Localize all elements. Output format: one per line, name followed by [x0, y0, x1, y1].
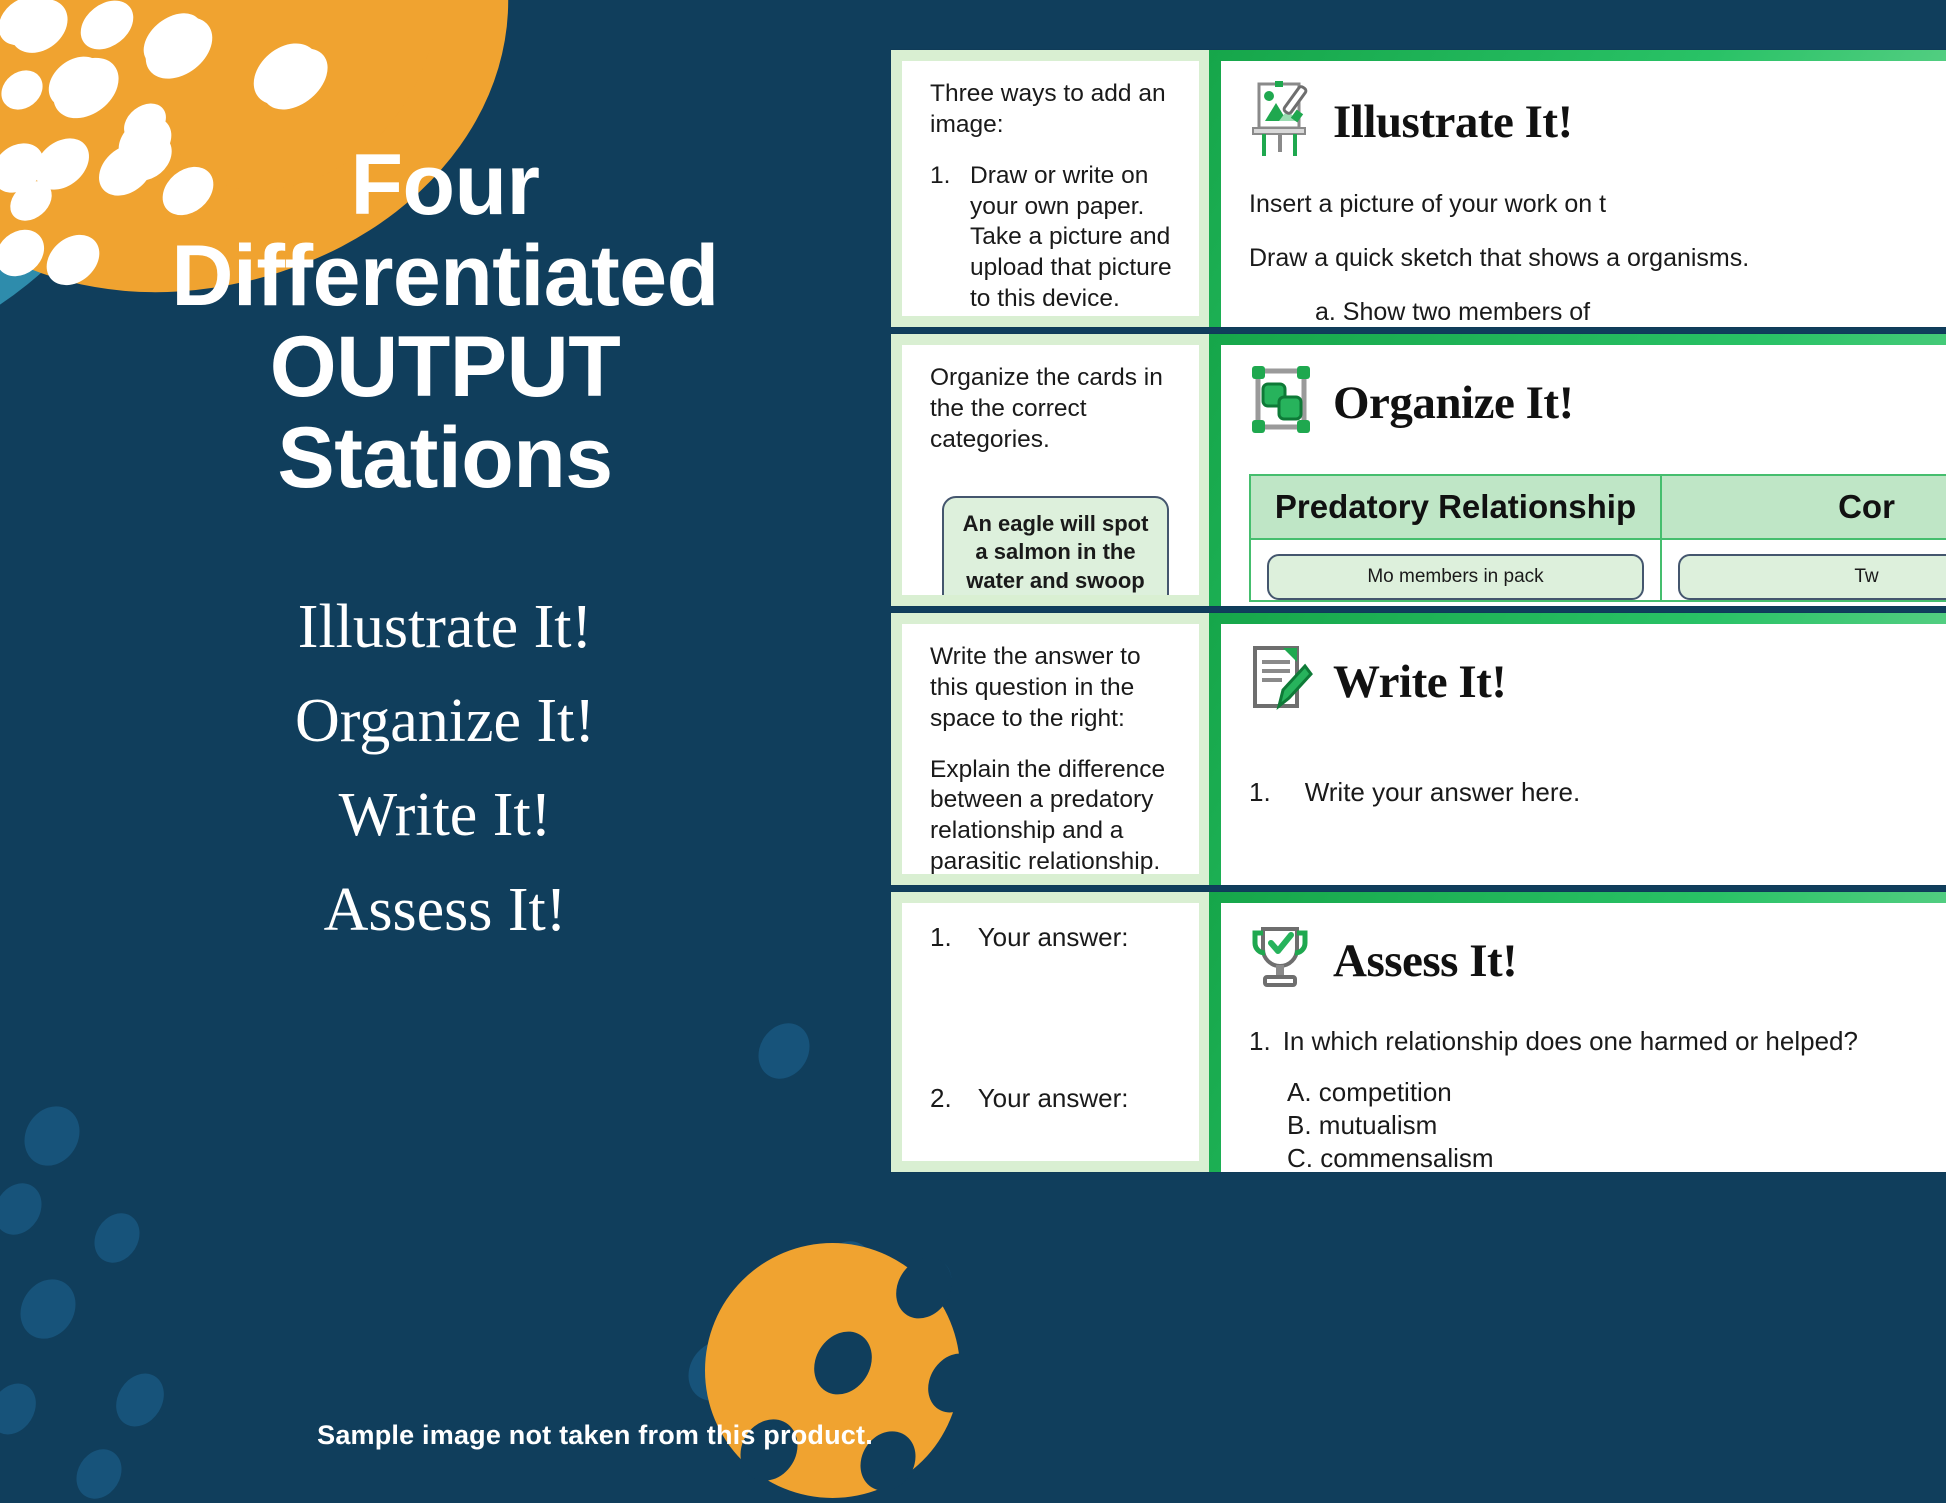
list-item: 1.Draw or write on your own paper. Take …: [930, 161, 1181, 315]
answer-choice-b[interactable]: B. mutualism: [1287, 1109, 1946, 1142]
table-column-header: Cor: [1662, 476, 1946, 540]
card-sub-item: a. Show two members of: [1315, 296, 1946, 327]
answer-prompt[interactable]: Write your answer here.: [1305, 777, 1581, 808]
table-cell-card[interactable]: Mo members in pack: [1267, 554, 1644, 600]
instruction-pane: Organize the cards in the the correct ca…: [891, 334, 1209, 606]
card-title: Write It!: [1333, 655, 1506, 709]
station-item-write: Write It!: [60, 768, 830, 862]
list-text: Draw or write on your own paper. Take a …: [970, 161, 1181, 315]
table-cell-card[interactable]: Tw: [1678, 554, 1946, 600]
list-number: 1.: [930, 161, 956, 315]
station-item-illustrate: Illustrate It!: [60, 580, 830, 674]
instruction-pane: Write the answer to this question in the…: [891, 613, 1209, 885]
organize-squares-icon: [1249, 365, 1315, 440]
headline-line-3: OUTPUT: [60, 322, 830, 413]
answer-choices: A. competition B. mutualism C. commensal…: [1287, 1076, 1946, 1172]
document-pencil-icon: [1249, 644, 1315, 719]
headline-line-4: Stations: [60, 413, 830, 504]
answer-blanks: 1. Your answer: 2. Your answer:: [930, 921, 1181, 1115]
slide-preview-write[interactable]: Write the answer to this question in the…: [891, 613, 1946, 885]
station-card-write: Write It! 1. Write your answer here.: [1209, 613, 1946, 885]
station-card-illustrate: Illustrate It! Insert a picture of your …: [1209, 50, 1946, 327]
answer-number: 2.: [930, 1082, 952, 1115]
answer-number: 1.: [1249, 777, 1271, 808]
station-card-assess: Assess It! 1. In which relationship does…: [1209, 892, 1946, 1172]
answer-number: 1.: [930, 921, 952, 954]
card-title: Assess It!: [1333, 934, 1517, 988]
table-column-header: Predatory Relationship: [1251, 476, 1660, 540]
answer-choice-a[interactable]: A. competition: [1287, 1076, 1946, 1109]
card-title: Organize It!: [1333, 376, 1574, 430]
slide-canvas: Four Differentiated OUTPUT Stations Illu…: [0, 0, 1946, 1503]
question-text: In which relationship does one harmed or…: [1283, 1026, 1858, 1058]
instruction-pane: 1. Your answer: 2. Your answer:: [891, 892, 1209, 1172]
answer-label[interactable]: Your answer:: [978, 1082, 1129, 1115]
answer-row: 1. Your answer:: [930, 921, 1181, 954]
instruction-question: Explain the difference between a predato…: [930, 755, 1181, 874]
station-list: Illustrate It! Organize It! Write It! As…: [60, 580, 830, 957]
instruction-heading: Three ways to add an image:: [930, 79, 1181, 141]
slide-previews: Three ways to add an image: 1.Draw or wr…: [891, 0, 1946, 1503]
instruction-heading: Write the answer to this question in the…: [930, 642, 1181, 735]
sortable-card[interactable]: An eagle will spot a salmon in the water…: [942, 496, 1169, 595]
page-title: Four Differentiated OUTPUT Stations: [60, 140, 830, 505]
card-paragraph: Insert a picture of your work on t: [1249, 188, 1946, 220]
table-column: Predatory Relationship Mo members in pac…: [1251, 476, 1662, 600]
station-item-organize: Organize It!: [60, 674, 830, 768]
category-table: Predatory Relationship Mo members in pac…: [1249, 474, 1946, 602]
instruction-heading: Organize the cards in the the correct ca…: [930, 363, 1181, 456]
trophy-check-icon: [1249, 923, 1315, 998]
easel-paintbrush-icon: [1249, 81, 1315, 162]
table-column: Cor Tw: [1662, 476, 1946, 600]
headline-line-2: Differentiated: [60, 231, 830, 322]
station-item-assess: Assess It!: [60, 863, 830, 957]
headline-line-1: Four: [60, 140, 830, 231]
slide-preview-organize[interactable]: Organize the cards in the the correct ca…: [891, 334, 1946, 606]
card-paragraph: Draw a quick sketch that shows a organis…: [1249, 242, 1946, 274]
answer-choice-c[interactable]: C. commensalism: [1287, 1142, 1946, 1172]
instruction-steps: 1.Draw or write on your own paper. Take …: [930, 161, 1181, 316]
slide-preview-illustrate[interactable]: Three ways to add an image: 1.Draw or wr…: [891, 50, 1946, 327]
station-card-organize: Organize It! Predatory Relationship Mo m…: [1209, 334, 1946, 606]
left-content-column: Four Differentiated OUTPUT Stations Illu…: [0, 0, 890, 1503]
slide-preview-assess[interactable]: 1. Your answer: 2. Your answer:: [891, 892, 1946, 1172]
answer-label[interactable]: Your answer:: [978, 921, 1129, 954]
question-number: 1.: [1249, 1026, 1271, 1058]
instruction-pane: Three ways to add an image: 1.Draw or wr…: [891, 50, 1209, 327]
answer-row: 2. Your answer:: [930, 1082, 1181, 1115]
card-title: Illustrate It!: [1333, 95, 1573, 149]
